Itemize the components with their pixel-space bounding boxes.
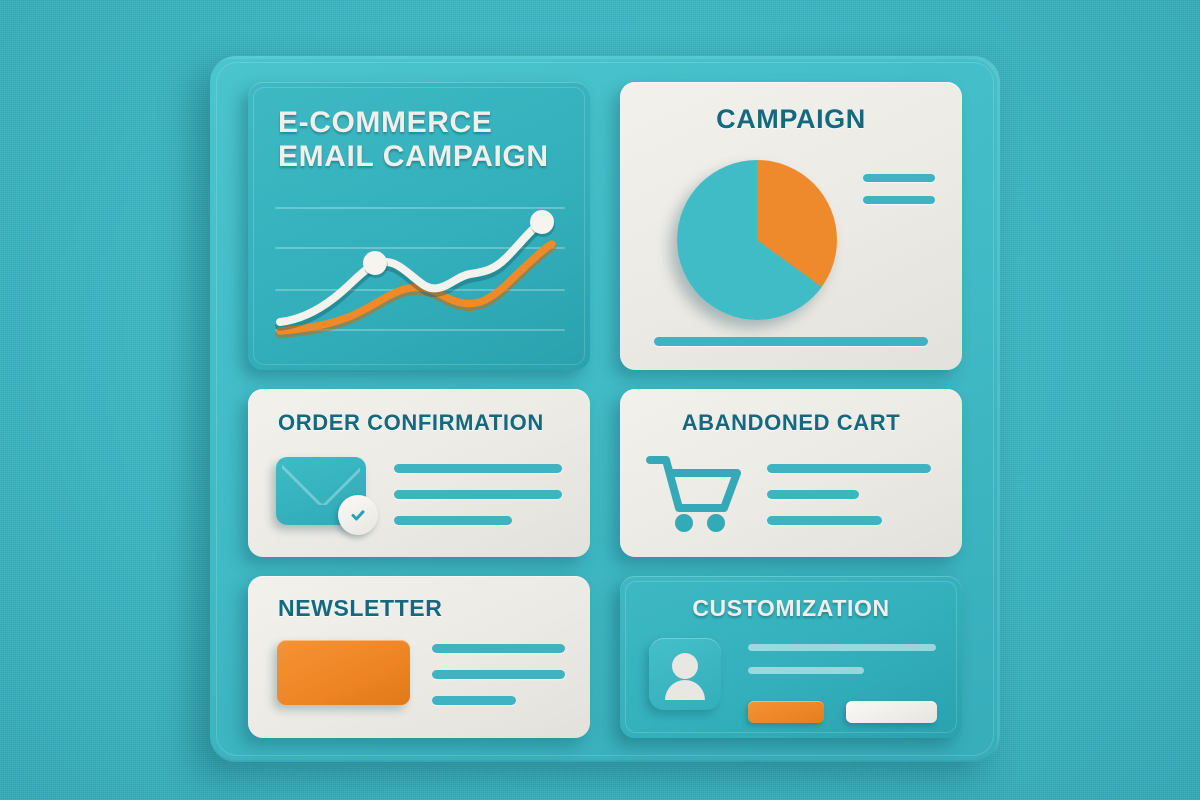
cart-wheel-left [675, 514, 693, 532]
user-avatar-icon [649, 638, 721, 710]
order-text-lines [394, 464, 562, 542]
card-newsletter[interactable]: NEWSLETTER [248, 576, 590, 738]
text-line [748, 667, 864, 674]
chart-marker-2[interactable] [530, 210, 554, 234]
check-badge [338, 495, 378, 535]
text-line [394, 516, 512, 525]
card-campaign[interactable]: CAMPAIGN [620, 82, 962, 370]
card-grid: E-COMMERCE EMAIL CAMPAIGN [248, 82, 962, 737]
secondary-button[interactable] [846, 701, 937, 723]
newsletter-text-lines [432, 644, 565, 722]
card-customization[interactable]: CUSTOMIZATION [620, 576, 962, 738]
primary-button[interactable] [748, 701, 824, 723]
card-title-abandoned-cart: ABANDONED CART [632, 411, 950, 436]
pie-chart-disc [677, 160, 837, 320]
legend-line [863, 174, 935, 182]
line-chart[interactable] [272, 200, 568, 342]
envelope-check-icon [276, 457, 366, 525]
text-line [767, 464, 931, 473]
chart-line-white [280, 222, 542, 322]
hero-title-line-2: EMAIL CAMPAIGN [278, 140, 549, 173]
customization-button-row [748, 701, 937, 723]
cart-wheel-right [707, 514, 725, 532]
text-line [432, 696, 516, 705]
legend-line [863, 196, 935, 204]
card-title-hero: E-COMMERCE EMAIL CAMPAIGN [278, 106, 568, 173]
campaign-footer-bar [654, 337, 928, 346]
customization-text-lines [748, 644, 936, 690]
hero-title-line-1: E-COMMERCE [278, 106, 492, 139]
line-chart-svg [272, 200, 568, 342]
newsletter-image-block[interactable] [277, 640, 410, 705]
card-abandoned-cart[interactable]: ABANDONED CART [620, 389, 962, 557]
pie-legend [863, 174, 935, 218]
card-order-confirmation[interactable]: ORDER CONFIRMATION [248, 389, 590, 557]
card-title-campaign: CAMPAIGN [620, 104, 962, 134]
envelope-icon [276, 457, 366, 525]
cart-text-lines [767, 464, 931, 542]
text-line [432, 670, 565, 679]
text-line [767, 490, 859, 499]
shopping-cart-icon [646, 451, 746, 538]
avatar-icon-svg [649, 638, 721, 710]
chart-marker-1[interactable] [363, 251, 387, 275]
text-line [394, 464, 562, 473]
text-line [432, 644, 565, 653]
pie-chart[interactable] [677, 160, 837, 320]
card-ecommerce-email-campaign[interactable]: E-COMMERCE EMAIL CAMPAIGN [248, 82, 590, 370]
text-line [748, 644, 936, 651]
check-icon [348, 505, 368, 525]
card-title-order-confirmation: ORDER CONFIRMATION [278, 411, 544, 436]
text-line [394, 490, 562, 499]
dashboard-panel: E-COMMERCE EMAIL CAMPAIGN [210, 56, 1000, 762]
card-title-customization: CUSTOMIZATION [620, 596, 962, 622]
card-title-newsletter: NEWSLETTER [278, 596, 442, 622]
cart-icon-svg [646, 451, 746, 533]
text-line [767, 516, 882, 525]
